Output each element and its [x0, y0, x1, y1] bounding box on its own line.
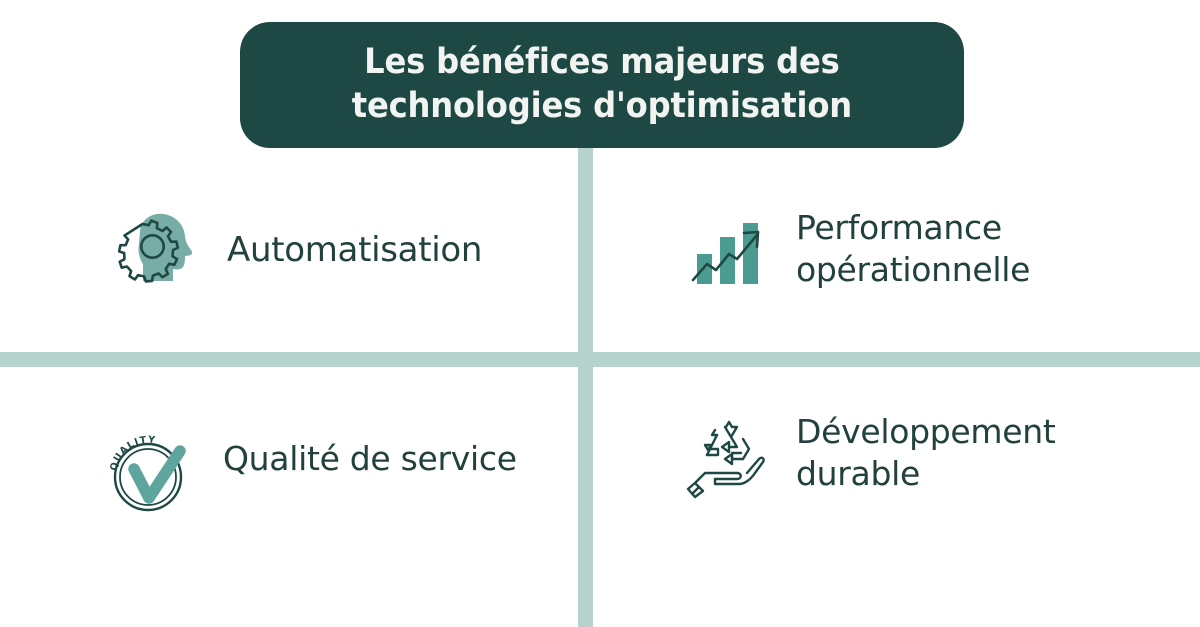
quadrant-performance: Performance opérationnelle — [593, 148, 1200, 352]
quadrant-label-performance: Performance opérationnelle — [796, 207, 1030, 290]
page-title: Les bénéfices majeurs des technologies d… — [328, 41, 876, 129]
head-gear-icon — [104, 202, 200, 298]
quadrant-automatisation: Automatisation — [0, 148, 578, 352]
quadrant-label-durable: Développement durable — [796, 411, 1056, 494]
quadrant-durable: Développement durable — [593, 367, 1200, 627]
quadrant-label-automatisation: Automatisation — [227, 229, 482, 272]
infographic-canvas: Les bénéfices majeurs des technologies d… — [0, 0, 1200, 627]
quality-check-seal-icon: QUALITY — [104, 425, 196, 517]
bar-chart-arrow-up-icon — [685, 206, 773, 294]
quadrant-qualite: QUALITY Qualité de service — [0, 367, 578, 627]
title-banner: Les bénéfices majeurs des technologies d… — [240, 22, 964, 148]
recycling-hand-icon — [685, 415, 773, 503]
vertical-divider — [578, 148, 593, 627]
quadrant-label-qualite: Qualité de service — [223, 438, 517, 480]
horizontal-divider — [0, 352, 1200, 367]
